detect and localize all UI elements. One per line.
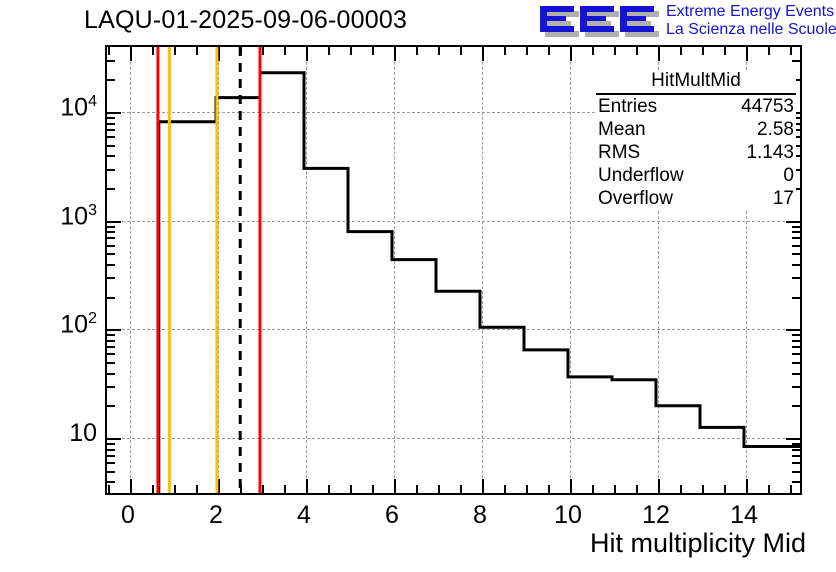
stats-row: Mean2.58 bbox=[596, 118, 796, 141]
stats-box: HitMultMid Entries44753Mean2.58RMS1.143U… bbox=[596, 70, 796, 210]
stats-row-value: 44753 bbox=[741, 95, 794, 118]
y-axis-tick-label: 102 bbox=[0, 310, 97, 339]
x-axis-tick-label: 10 bbox=[528, 501, 608, 530]
y-axis-tick-label: 103 bbox=[0, 202, 97, 231]
x-axis-tick-label: 14 bbox=[704, 501, 784, 530]
stats-row-label: RMS bbox=[598, 141, 640, 164]
y-axis-tick-label: 10 bbox=[0, 419, 97, 448]
stats-row-label: Entries bbox=[598, 95, 657, 118]
stats-row-value: 2.58 bbox=[757, 118, 794, 141]
stats-row-label: Overflow bbox=[598, 187, 673, 210]
root-canvas: LAQU-01-2025-09-06-00003 bbox=[0, 0, 836, 572]
stats-row: Overflow17 bbox=[596, 187, 796, 210]
eee-tagline-line1: Extreme Energy Events bbox=[666, 3, 836, 21]
stats-row-value: 0 bbox=[783, 164, 794, 187]
stats-row-label: Mean bbox=[598, 118, 646, 141]
stats-row: Underflow0 bbox=[596, 164, 796, 187]
x-axis-tick-label: 4 bbox=[264, 501, 344, 530]
stats-row-label: Underflow bbox=[598, 164, 684, 187]
x-axis-tick-label: 6 bbox=[352, 501, 432, 530]
stats-row-value: 1.143 bbox=[746, 141, 794, 164]
x-axis-tick-label: 2 bbox=[176, 501, 256, 530]
page-title: LAQU-01-2025-09-06-00003 bbox=[84, 6, 407, 35]
stats-row: RMS1.143 bbox=[596, 141, 796, 164]
eee-tagline-line2: La Scienza nelle Scuole bbox=[666, 21, 836, 39]
stats-rows: Entries44753Mean2.58RMS1.143Underflow0Ov… bbox=[596, 95, 796, 210]
stats-row-value: 17 bbox=[773, 187, 794, 210]
eee-letters-icon bbox=[538, 3, 660, 39]
eee-logo-text: Extreme Energy Events La Scienza nelle S… bbox=[666, 3, 836, 39]
x-axis-tick-label: 12 bbox=[616, 501, 696, 530]
stats-row: Entries44753 bbox=[596, 95, 796, 118]
y-axis-tick-label: 104 bbox=[0, 93, 97, 122]
eee-logo: Extreme Energy Events La Scienza nelle S… bbox=[538, 2, 836, 42]
x-axis-tick-label: 8 bbox=[440, 501, 520, 530]
x-axis-tick-label: 0 bbox=[88, 501, 168, 530]
stats-title: HitMultMid bbox=[596, 70, 796, 95]
x-axis-title: Hit multiplicity Mid bbox=[590, 528, 806, 559]
